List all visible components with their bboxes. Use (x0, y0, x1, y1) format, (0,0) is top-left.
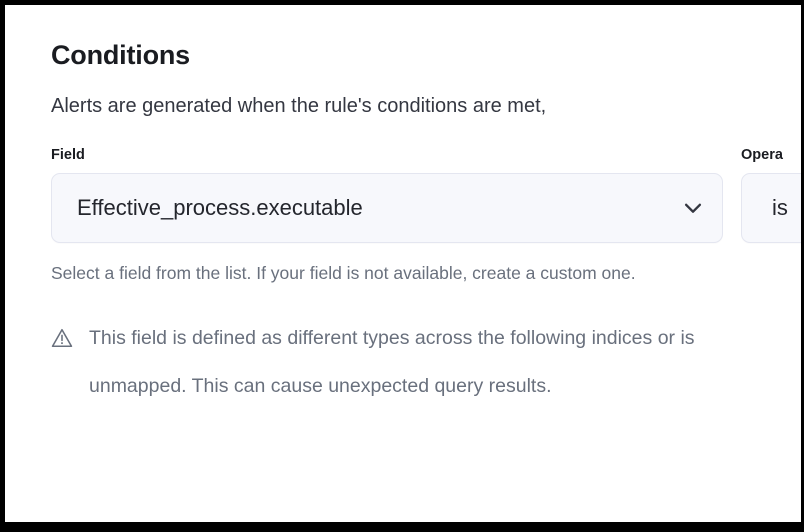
field-helper-text: Select a field from the list. If your fi… (51, 258, 676, 289)
panel-description: Alerts are generated when the rule's con… (51, 92, 801, 120)
field-select-value: Effective_process.executable (77, 195, 668, 221)
field-label: Field (51, 146, 741, 164)
panel-content: Conditions Alerts are generated when the… (5, 5, 801, 410)
operator-select-value: is (772, 195, 801, 221)
operator-select[interactable]: is (741, 173, 801, 243)
conditions-panel: Conditions Alerts are generated when the… (5, 5, 801, 522)
warning-message: This field is defined as different types… (89, 314, 711, 410)
field-form-group: Field Effective_process.executable (51, 146, 741, 243)
operator-form-group: Opera is (741, 146, 801, 243)
condition-row: Field Effective_process.executable Opera… (51, 146, 801, 243)
field-type-warning: This field is defined as different types… (51, 314, 711, 410)
field-select[interactable]: Effective_process.executable (51, 173, 723, 243)
warning-triangle-icon (51, 327, 73, 349)
page-title: Conditions (51, 39, 801, 71)
chevron-down-icon (682, 197, 704, 219)
operator-label: Opera (741, 146, 801, 164)
screenshot-frame: Conditions Alerts are generated when the… (0, 0, 804, 532)
